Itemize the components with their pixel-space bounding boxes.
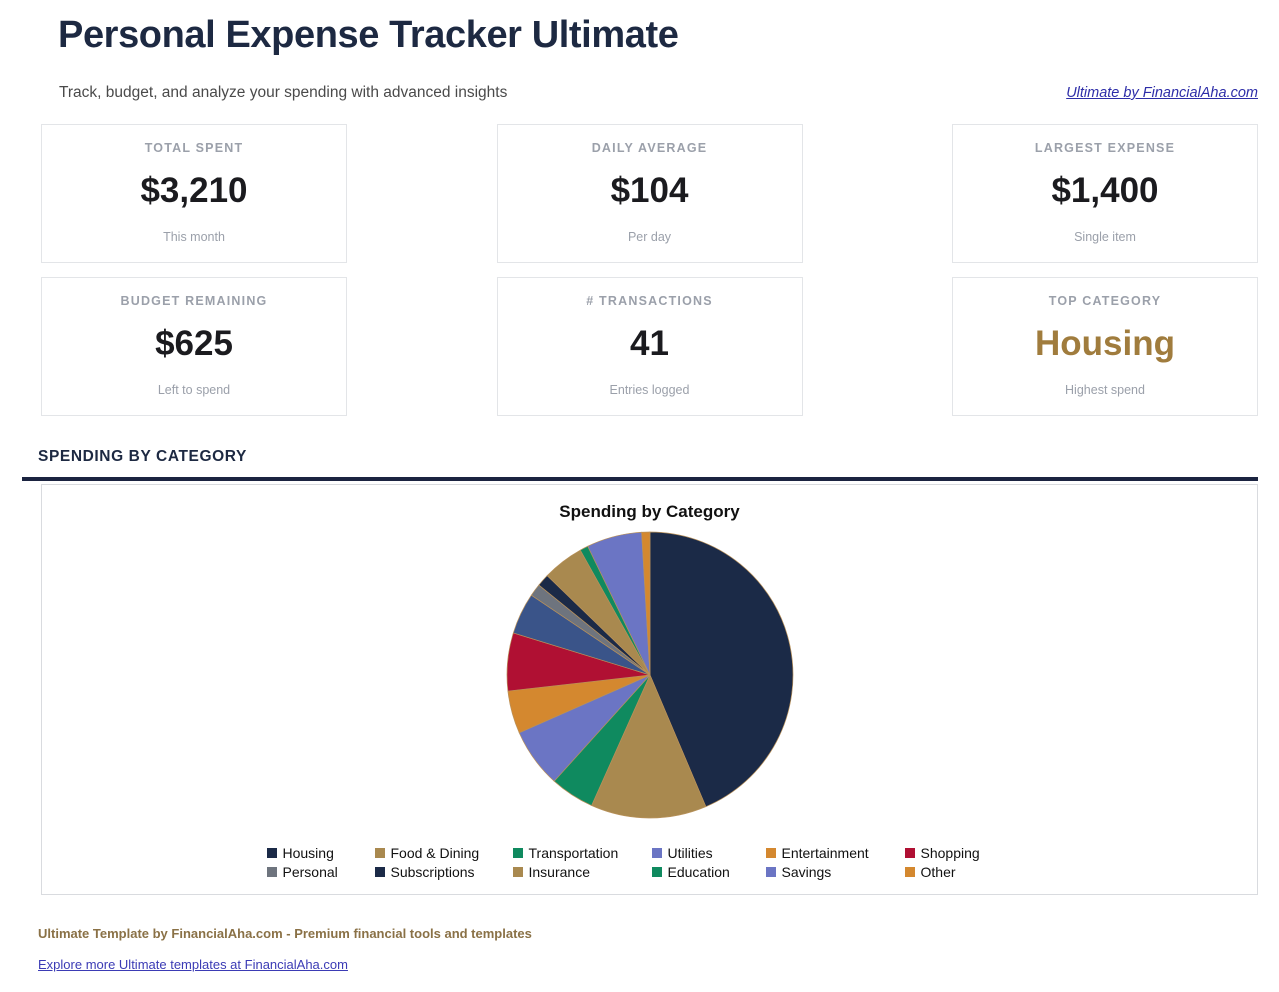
legend-swatch-icon [652, 867, 662, 877]
legend-swatch-icon [652, 848, 662, 858]
section-divider [22, 477, 1258, 481]
kpi-card-transactions: # TRANSACTIONS 41 Entries logged [497, 277, 803, 416]
kpi-card-total-spent: TOTAL SPENT $3,210 This month [41, 124, 347, 263]
kpi-sublabel: Left to spend [158, 383, 230, 397]
legend-row-2: Personal Subscriptions Insurance Educati… [267, 864, 1033, 880]
legend-label: Personal [283, 864, 338, 880]
chart-title: Spending by Category [42, 502, 1257, 522]
legend-item-education[interactable]: Education [652, 864, 766, 880]
brand-link[interactable]: Ultimate by FinancialAha.com [1066, 85, 1258, 101]
legend-swatch-icon [905, 867, 915, 877]
legend-item-utilities[interactable]: Utilities [652, 845, 766, 861]
kpi-sublabel: Single item [1074, 230, 1136, 244]
legend-item-savings[interactable]: Savings [766, 864, 905, 880]
legend-item-transportation[interactable]: Transportation [513, 845, 652, 861]
legend-label: Housing [283, 845, 334, 861]
legend-swatch-icon [513, 848, 523, 858]
legend-item-other[interactable]: Other [905, 864, 1033, 880]
legend-label: Education [668, 864, 730, 880]
page-title: Personal Expense Tracker Ultimate [58, 14, 678, 57]
pie-chart-svg[interactable] [500, 531, 800, 821]
legend-label: Insurance [529, 864, 590, 880]
footer-link[interactable]: Explore more Ultimate templates at Finan… [38, 957, 348, 972]
legend-item-housing[interactable]: Housing [267, 845, 375, 861]
kpi-card-largest-expense: LARGEST EXPENSE $1,400 Single item [952, 124, 1258, 263]
legend-label: Shopping [921, 845, 980, 861]
chart-panel-spending-by-category: Spending by Category Housing Food & Dini… [41, 484, 1258, 895]
section-title-spending-by-category: SPENDING BY CATEGORY [38, 448, 247, 466]
pie-chart [42, 531, 1257, 821]
legend-swatch-icon [267, 867, 277, 877]
legend-item-insurance[interactable]: Insurance [513, 864, 652, 880]
legend-label: Transportation [529, 845, 619, 861]
legend-label: Savings [782, 864, 832, 880]
legend-item-personal[interactable]: Personal [267, 864, 375, 880]
kpi-label: BUDGET REMAINING [121, 294, 268, 308]
legend-label: Utilities [668, 845, 713, 861]
page-subtitle: Track, budget, and analyze your spending… [59, 84, 507, 102]
kpi-card-top-category: TOP CATEGORY Housing Highest spend [952, 277, 1258, 416]
footer-note: Ultimate Template by FinancialAha.com - … [38, 926, 532, 941]
kpi-value: Housing [1035, 326, 1175, 361]
kpi-sublabel: Highest spend [1065, 383, 1145, 397]
kpi-sublabel: Per day [628, 230, 671, 244]
kpi-sublabel: Entries logged [610, 383, 690, 397]
kpi-value: $625 [155, 326, 233, 361]
legend-item-entertainment[interactable]: Entertainment [766, 845, 905, 861]
kpi-value: $3,210 [140, 173, 247, 208]
kpi-label: # TRANSACTIONS [586, 294, 713, 308]
legend-swatch-icon [375, 867, 385, 877]
kpi-value: $1,400 [1051, 173, 1158, 208]
legend-item-food-and-dining[interactable]: Food & Dining [375, 845, 513, 861]
legend-swatch-icon [375, 848, 385, 858]
kpi-grid: TOTAL SPENT $3,210 This month DAILY AVER… [41, 124, 1258, 416]
legend-label: Subscriptions [391, 864, 475, 880]
chart-legend: Housing Food & Dining Transportation Uti… [42, 845, 1257, 880]
kpi-label: LARGEST EXPENSE [1035, 141, 1175, 155]
kpi-value: $104 [611, 173, 689, 208]
legend-swatch-icon [905, 848, 915, 858]
legend-swatch-icon [267, 848, 277, 858]
legend-swatch-icon [766, 867, 776, 877]
legend-label: Food & Dining [391, 845, 480, 861]
kpi-sublabel: This month [163, 230, 225, 244]
kpi-label: DAILY AVERAGE [592, 141, 708, 155]
kpi-value: 41 [630, 326, 669, 361]
legend-swatch-icon [513, 867, 523, 877]
legend-label: Entertainment [782, 845, 869, 861]
kpi-label: TOP CATEGORY [1049, 294, 1162, 308]
legend-swatch-icon [766, 848, 776, 858]
kpi-card-daily-average: DAILY AVERAGE $104 Per day [497, 124, 803, 263]
legend-item-subscriptions[interactable]: Subscriptions [375, 864, 513, 880]
kpi-card-budget-remaining: BUDGET REMAINING $625 Left to spend [41, 277, 347, 416]
legend-label: Other [921, 864, 956, 880]
legend-item-shopping[interactable]: Shopping [905, 845, 1033, 861]
legend-row-1: Housing Food & Dining Transportation Uti… [267, 845, 1033, 861]
kpi-label: TOTAL SPENT [145, 141, 244, 155]
